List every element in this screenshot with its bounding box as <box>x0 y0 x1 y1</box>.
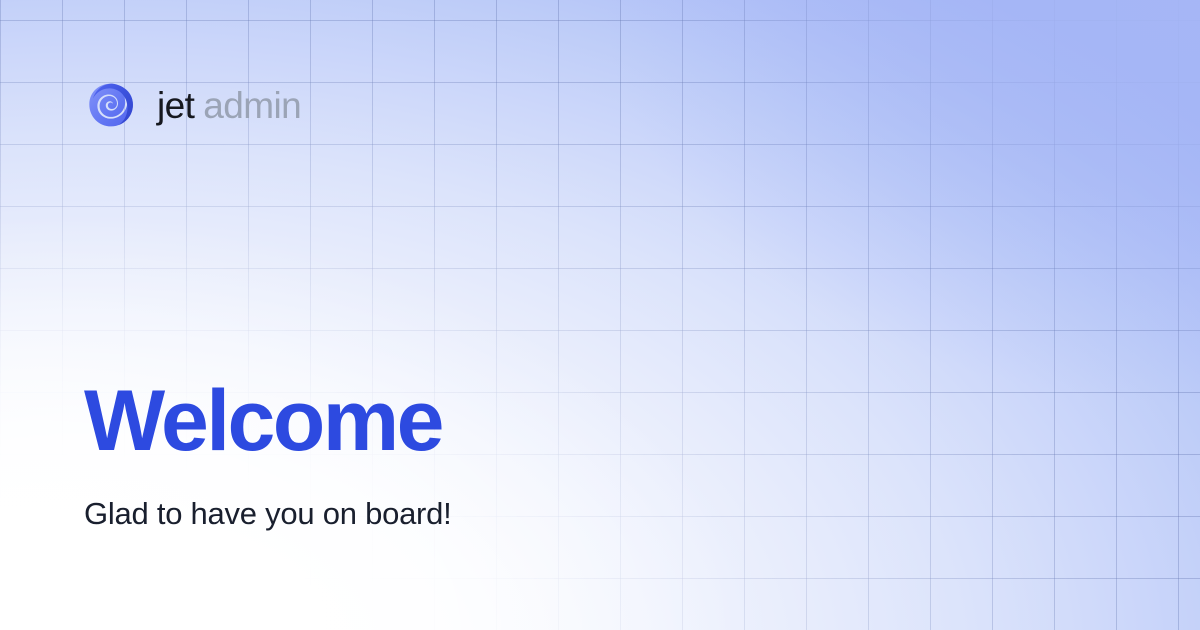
wordmark-admin: admin <box>203 87 301 124</box>
hero-text-block: Welcome Glad to have you on board! <box>84 378 451 531</box>
wordmark-jet: jet <box>157 87 194 124</box>
jet-admin-spiral-logo-icon <box>84 78 138 132</box>
brand-wordmark: jet admin <box>157 87 301 124</box>
page-subtitle: Glad to have you on board! <box>84 497 451 531</box>
welcome-banner: jet admin Welcome Glad to have you on bo… <box>0 0 1200 630</box>
page-title: Welcome <box>84 378 451 464</box>
brand-logo-lockup[interactable]: jet admin <box>84 78 301 132</box>
